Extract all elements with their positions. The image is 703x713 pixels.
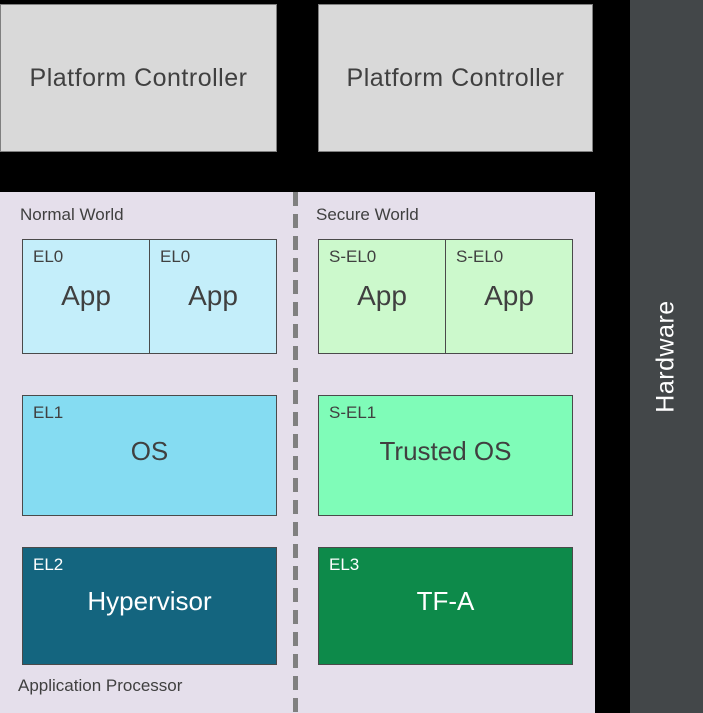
- exception-level-tag: S-EL0: [456, 247, 503, 267]
- exception-level-tag: EL1: [33, 403, 63, 423]
- app-title: App: [23, 280, 149, 312]
- exception-level-tag: EL0: [33, 247, 63, 267]
- exception-level-tag: EL0: [160, 247, 190, 267]
- platform-controller-box-left: Platform Controller: [0, 4, 277, 152]
- world-divider-dashed-line: [293, 192, 298, 713]
- application-processor-panel: Normal World Secure World EL0 App EL0 Ap…: [0, 192, 595, 713]
- normal-world-el0-app-box-2: EL0 App: [149, 239, 277, 354]
- secure-world-sel0-app-box-1: S-EL0 App: [318, 239, 446, 354]
- diagram-canvas: Platform Controller Platform Controller …: [0, 0, 703, 713]
- normal-world-el0-app-box-1: EL0 App: [22, 239, 150, 354]
- app-title: App: [446, 280, 572, 312]
- exception-level-tag: EL2: [33, 555, 63, 575]
- secure-world-el3-tfa-box: EL3 TF-A: [318, 547, 573, 665]
- platform-controller-box-right: Platform Controller: [318, 4, 593, 152]
- platform-controller-label: Platform Controller: [347, 64, 565, 93]
- trusted-os-title: Trusted OS: [319, 436, 572, 467]
- hypervisor-title: Hypervisor: [23, 586, 276, 617]
- normal-world-el1-os-box: EL1 OS: [22, 395, 277, 516]
- app-title: App: [319, 280, 445, 312]
- secure-world-label: Secure World: [316, 205, 419, 225]
- exception-level-tag: S-EL1: [329, 403, 376, 423]
- tfa-title: TF-A: [319, 586, 572, 617]
- os-title: OS: [23, 436, 276, 467]
- normal-world-el2-hypervisor-box: EL2 Hypervisor: [22, 547, 277, 665]
- application-processor-caption: Application Processor: [18, 676, 182, 696]
- exception-level-tag: S-EL0: [329, 247, 376, 267]
- hardware-bar: Hardware: [630, 0, 703, 713]
- hardware-label: Hardware: [652, 300, 681, 412]
- app-title: App: [150, 280, 276, 312]
- platform-controller-label: Platform Controller: [30, 64, 248, 93]
- normal-world-label: Normal World: [20, 205, 124, 225]
- exception-level-tag: EL3: [329, 555, 359, 575]
- secure-world-sel0-app-box-2: S-EL0 App: [445, 239, 573, 354]
- secure-world-sel1-trusted-os-box: S-EL1 Trusted OS: [318, 395, 573, 516]
